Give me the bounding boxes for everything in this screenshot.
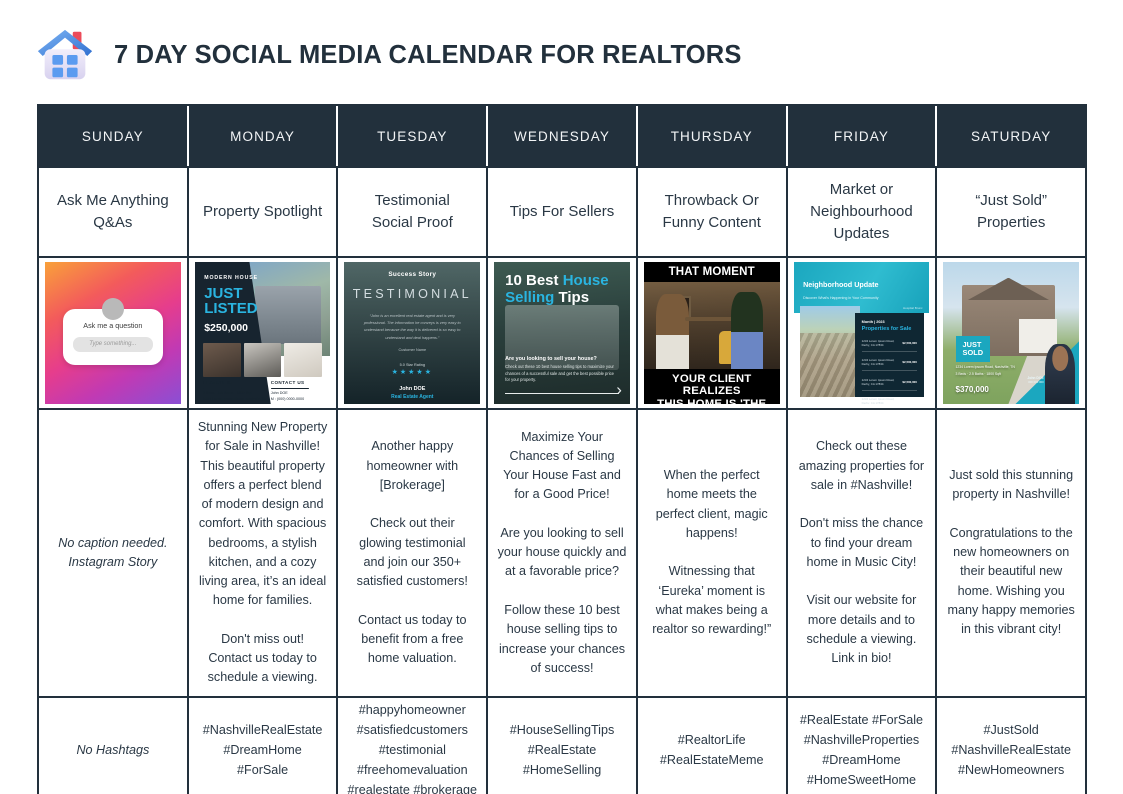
flyer-subhead: Discover What's Happening in Your Commun… — [803, 296, 878, 300]
testimonial-kicker: Success Story — [344, 271, 480, 278]
sold-price: $370,000 — [956, 385, 989, 394]
tips-body: Check out these 10 best house selling ti… — [505, 364, 616, 384]
caption-cell: Just sold this stunning property in Nash… — [937, 408, 1085, 696]
listing-address: 1234 Lorem Ipsum Road, Derby, CA 17834 — [862, 378, 903, 386]
content-type-text: Testimonial Social Proof — [372, 190, 453, 234]
testimonial-attribution: Customer Name — [344, 348, 480, 352]
calendar-page: 7 DAY SOCIAL MEDIA CALENDAR FOR REALTORS… — [0, 0, 1123, 794]
creative-cell-monday: MODERN HOUSE JUST LISTED $250,000 FEATUR… — [189, 256, 339, 408]
flyer-headline: Neighborhood Update — [803, 280, 878, 289]
content-type-cell: Property Spotlight — [189, 166, 339, 256]
listing-row: 1234 Lorem Ipsum Road, Derby, CA 17834$2… — [862, 378, 917, 391]
calendar-table: SUNDAY MONDAY TUESDAY WEDNESDAY THURSDAY… — [37, 104, 1087, 794]
caption-row: No caption needed. Instagram Story Stunn… — [39, 408, 1085, 696]
panel-month: Month | 2023 — [862, 320, 917, 324]
features-block: FEATURES: 3 Beds · 2.5 Baths · 1800 Sqft… — [203, 380, 268, 403]
caption-text: No caption needed. Instagram Story — [58, 534, 167, 573]
listing-price: $2,500,000 — [902, 341, 916, 345]
listing-price: $2,500,000 — [902, 399, 916, 403]
meme-thumbnail[interactable]: THAT MOMENT YOUR CLIENT REALIZES THIS HO… — [644, 262, 780, 404]
page-header: 7 DAY SOCIAL MEDIA CALENDAR FOR REALTORS — [0, 0, 1123, 84]
creative-cell-saturday: JUST SOLD 1234 Lorem Ipsum Road, Nashvil… — [937, 256, 1085, 408]
content-type-text: Market or Neighbourhood Updates — [810, 179, 913, 244]
meme-image — [644, 282, 780, 369]
creative-cell-sunday: Ask me a question Type something... — [39, 256, 189, 408]
sticker-handle-icon — [102, 298, 124, 320]
day-header-row: SUNDAY MONDAY TUESDAY WEDNESDAY THURSDAY… — [39, 106, 1085, 166]
features-label: FEATURES: — [203, 380, 268, 385]
day-header-thursday: THURSDAY — [638, 106, 788, 166]
divider — [203, 388, 242, 389]
content-type-cell: Throwback Or Funny Content — [638, 166, 788, 256]
content-type-cell: Ask Me Anything Q&As — [39, 166, 189, 256]
contact-label: CONTACT US — [271, 380, 325, 385]
neighborhood-update-thumbnail[interactable]: Neighborhood Update Discover What's Happ… — [794, 262, 930, 404]
question-text: Ask me a question — [73, 321, 153, 330]
page-title: 7 DAY SOCIAL MEDIA CALENDAR FOR REALTORS — [114, 41, 742, 70]
agent-phone: 000 000 000 — [1027, 380, 1043, 384]
question-sticker: Ask me a question Type something... — [63, 309, 163, 365]
day-header-sunday: SUNDAY — [39, 106, 189, 166]
hashtag-cell: #NashvilleRealEstate #DreamHome #ForSale — [189, 696, 339, 794]
meme-bottom-text: YOUR CLIENT REALIZES THIS HOME IS 'THE O… — [644, 369, 780, 404]
caption-cell: Maximize Your Chances of Selling Your Ho… — [488, 408, 638, 696]
flyer-footer: FEATURES: 3 Beds · 2.5 Baths · 1800 Sqft… — [195, 373, 331, 404]
day-label: TUESDAY — [377, 129, 447, 144]
tips-headline: 10 Best HouseSelling Tips — [505, 273, 619, 307]
listing-price: $2,500,000 — [902, 360, 916, 364]
creative-preview-row: Ask me a question Type something... MODE… — [39, 256, 1085, 408]
contact-block: CONTACT US John DOE M : (000) 0000-0000 — [271, 380, 325, 403]
day-header-saturday: SATURDAY — [937, 106, 1085, 166]
caption-cell: Stunning New Property for Sale in Nashvi… — [189, 408, 339, 696]
caption-text: Check out these amazing properties for s… — [797, 437, 927, 668]
rating-label: 5.0 Star Rating — [344, 363, 480, 367]
hashtag-cell: No Hashtags — [39, 696, 189, 794]
star-rating-icon: ★★★★★ — [344, 368, 480, 376]
listing-address: 1234 Lorem Ipsum Road, Derby, CA 17834 — [862, 397, 903, 404]
person-right — [731, 292, 764, 369]
caption-text: Another happy homeowner with [Brokerage]… — [347, 437, 477, 668]
hashtag-cell: #RealtorLife #RealEstateMeme — [638, 696, 788, 794]
testimonial-content: Success Story TESTIMONIAL “John is an ex… — [344, 262, 480, 404]
features-line-2: 1234 Lorem Ipsum Road, Nashville TN — [203, 397, 268, 403]
hashtag-cell: #RealEstate #ForSale #NashvillePropertie… — [788, 696, 938, 794]
flyer-price: $250,000 — [204, 322, 275, 334]
creative-cell-tuesday: Success Story TESTIMONIAL “John is an ex… — [338, 256, 488, 408]
caption-text: Maximize Your Chances of Selling Your Ho… — [497, 428, 627, 678]
instagram-story-thumbnail[interactable]: Ask me a question Type something... — [45, 262, 181, 404]
flyer-corner-note: Hospital Brunc — [903, 306, 923, 310]
content-type-text: Ask Me Anything Q&As — [57, 190, 169, 234]
selling-tips-post-thumbnail[interactable]: 10 Best HouseSelling Tips Are you lookin… — [494, 262, 630, 404]
day-label: WEDNESDAY — [514, 129, 610, 144]
hashtag-text: #happyhomeowner #satisfiedcustomers #tes… — [348, 700, 478, 794]
caption-text: When the perfect home meets the perfect … — [647, 466, 777, 639]
contact-phone: M : (000) 0000-0000 — [271, 397, 325, 403]
hashtag-row: No Hashtags #NashvilleRealEstate #DreamH… — [39, 696, 1085, 794]
testimonial-quote: “John is an excellent real estate agent … — [360, 312, 464, 341]
content-type-cell: Market or Neighbourhood Updates — [788, 166, 938, 256]
hashtag-text: No Hashtags — [76, 740, 149, 760]
meme-top-text: THAT MOMENT — [644, 262, 780, 282]
day-label: FRIDAY — [834, 129, 889, 144]
caption-cell: No caption needed. Instagram Story — [39, 408, 189, 696]
tips-headline-accent1: House — [563, 272, 609, 289]
panel-title: Properties for Sale — [862, 326, 917, 332]
listing-row: 1234 Lorem Ipsum Road, Derby, CA 17834$2… — [862, 397, 917, 404]
hashtag-cell: #HouseSellingTips #RealEstate #HomeSelli… — [488, 696, 638, 794]
testimonial-headline: TESTIMONIAL — [344, 287, 480, 301]
listing-price: $2,500,000 — [902, 380, 916, 384]
divider — [271, 388, 309, 389]
content-type-text: Tips For Sellers — [510, 201, 614, 223]
person-left — [656, 294, 689, 369]
tips-headline-part2: Tips — [559, 289, 590, 306]
day-header-wednesday: WEDNESDAY — [488, 106, 638, 166]
day-label: MONDAY — [230, 129, 295, 144]
hashtag-text: #HouseSellingTips #RealEstate #HomeSelli… — [497, 720, 627, 780]
day-header-friday: FRIDAY — [788, 106, 938, 166]
day-label: THURSDAY — [671, 129, 753, 144]
day-label: SUNDAY — [82, 129, 144, 144]
chevron-right-icon[interactable] — [505, 393, 619, 394]
content-type-cell: “Just Sold” Properties — [937, 166, 1085, 256]
tips-headline-accent2: Selling — [505, 289, 558, 306]
content-type-row: Ask Me Anything Q&As Property Spotlight … — [39, 166, 1085, 256]
content-type-text: Property Spotlight — [203, 201, 322, 223]
caption-cell: Another happy homeowner with [Brokerage]… — [338, 408, 488, 696]
tips-question: Are you looking to sell your house? — [505, 356, 597, 362]
caption-text: Stunning New Property for Sale in Nashvi… — [198, 418, 328, 688]
house-icon — [34, 24, 96, 86]
creative-cell-wednesday: 10 Best HouseSelling Tips Are you lookin… — [488, 256, 638, 408]
content-type-cell: Tips For Sellers — [488, 166, 638, 256]
listing-address: 1234 Lorem Ipsum Road, Derby, CA 17834 — [862, 339, 903, 347]
hashtag-text: #RealtorLife #RealEstateMeme — [660, 730, 764, 770]
content-type-cell: Testimonial Social Proof — [338, 166, 488, 256]
listings-panel: Month | 2023 Properties for Sale 1234 Lo… — [855, 313, 924, 397]
tips-content: 10 Best HouseSelling Tips Are you lookin… — [494, 262, 630, 404]
caption-text: Just sold this stunning property in Nash… — [946, 466, 1076, 639]
flyer-headline: JUST LISTED — [204, 286, 275, 317]
agent-name: John DOE — [344, 386, 480, 392]
just-listed-flyer-thumbnail[interactable]: MODERN HOUSE JUST LISTED $250,000 FEATUR… — [195, 262, 331, 404]
agent-photo — [1045, 344, 1075, 404]
content-type-text: Throwback Or Funny Content — [663, 190, 761, 234]
hashtag-text: #JustSold #NashvilleRealEstate #NewHomeo… — [951, 720, 1071, 780]
day-header-monday: MONDAY — [189, 106, 339, 166]
listing-row: 1234 Lorem Ipsum Road, Derby, CA 17834$2… — [862, 358, 917, 371]
testimonial-post-thumbnail[interactable]: Success Story TESTIMONIAL “John is an ex… — [344, 262, 480, 404]
just-sold-badge: JUST SOLD — [956, 336, 991, 362]
property-address: 1234 Lorem Ipsum Road, Nashville, TN 3 B… — [956, 364, 1015, 377]
listing-address: 1234 Lorem Ipsum Road, Derby, CA 17834 — [862, 358, 903, 366]
aerial-neighborhood-photo — [800, 306, 860, 397]
pointing-arms — [685, 317, 737, 321]
just-sold-flyer-thumbnail[interactable]: JUST SOLD 1234 Lorem Ipsum Road, Nashvil… — [943, 262, 1079, 404]
hashtag-cell: #JustSold #NashvilleRealEstate #NewHomeo… — [937, 696, 1085, 794]
flyer-heading-block: MODERN HOUSE JUST LISTED $250,000 — [204, 275, 275, 335]
creative-cell-thursday: THAT MOMENT YOUR CLIENT REALIZES THIS HO… — [638, 256, 788, 408]
day-label: SATURDAY — [971, 129, 1051, 144]
content-type-text: “Just Sold” Properties — [975, 190, 1047, 234]
hashtag-text: #RealEstate #ForSale #NashvillePropertie… — [800, 710, 923, 791]
listing-row: 1234 Lorem Ipsum Road, Derby, CA 17834$2… — [862, 339, 917, 352]
creative-cell-friday: Neighborhood Update Discover What's Happ… — [788, 256, 938, 408]
answer-input[interactable]: Type something... — [73, 337, 153, 352]
tips-headline-part1: 10 Best — [505, 272, 563, 289]
hashtag-text: #NashvilleRealEstate #DreamHome #ForSale — [198, 720, 328, 780]
day-header-tuesday: TUESDAY — [338, 106, 488, 166]
caption-cell: When the perfect home meets the perfect … — [638, 408, 788, 696]
agent-role: Real Estate Agent — [344, 394, 480, 400]
hashtag-cell: #happyhomeowner #satisfiedcustomers #tes… — [338, 696, 488, 794]
flyer-kicker: MODERN HOUSE — [204, 275, 275, 281]
agent-info: John DOE 000 000 000 — [1027, 376, 1043, 384]
caption-cell: Check out these amazing properties for s… — [788, 408, 938, 696]
